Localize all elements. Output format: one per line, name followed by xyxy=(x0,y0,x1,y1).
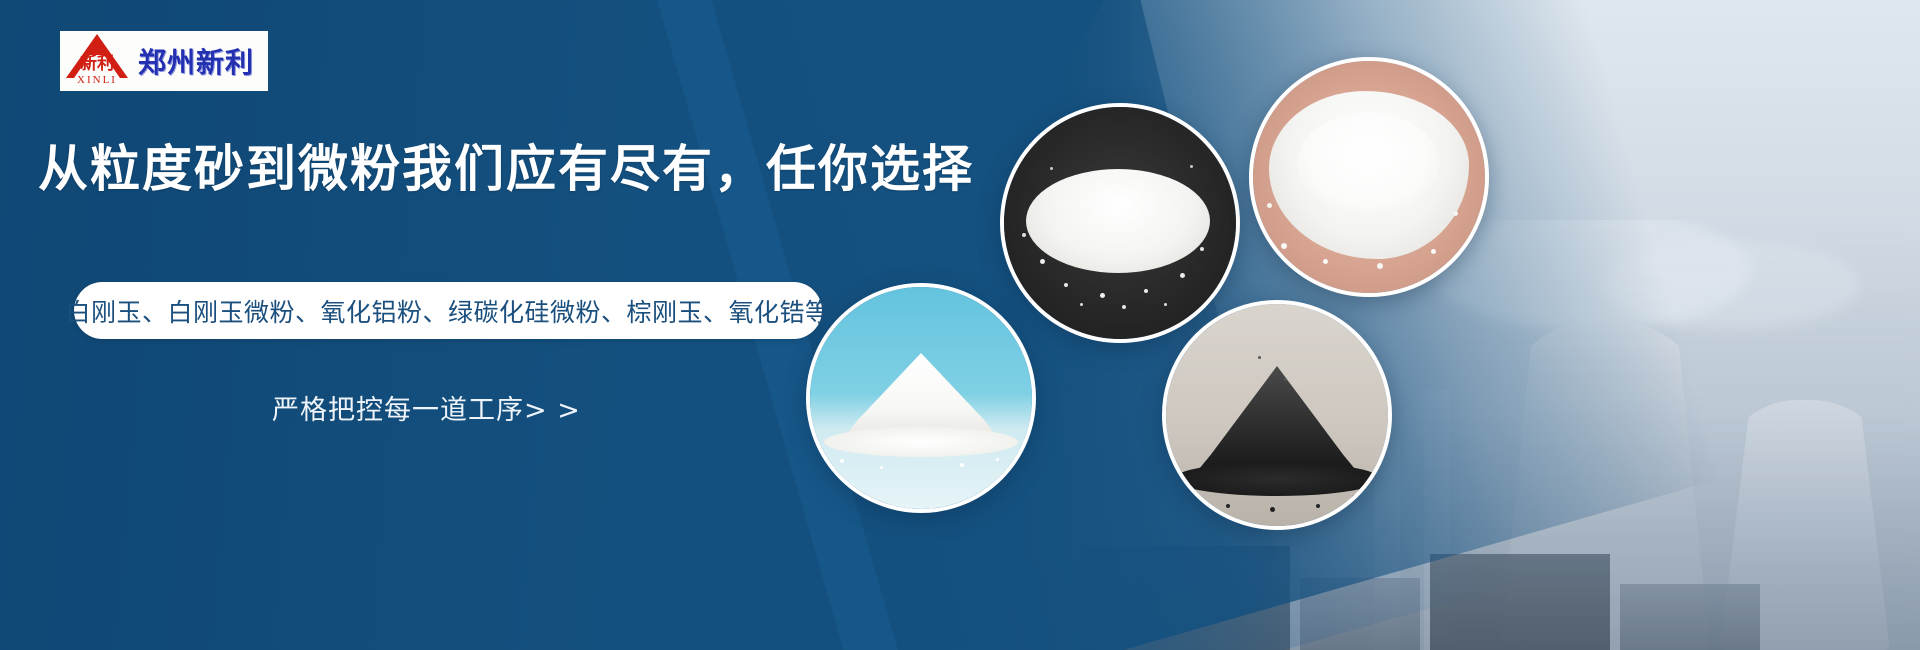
company-logo[interactable]: 新利 XINLI 郑州新利 xyxy=(60,31,268,91)
logo-company-name: 郑州新利 xyxy=(138,41,254,81)
promo-banner: 新利 XINLI 郑州新利 从粒度砂到微粉我们应有尽有，任你选择 白刚玉、白刚玉… xyxy=(0,0,1920,650)
logo-mark-pinyin: XINLI xyxy=(60,74,134,86)
product-list-text: 白刚玉、白刚玉微粉、氧化铝粉、绿碳化硅微粉、棕刚玉、氧化锆等 xyxy=(66,293,831,329)
headline: 从粒度砂到微粉我们应有尽有，任你选择 xyxy=(38,139,974,199)
product-photo-black-grit-cone xyxy=(1162,300,1392,530)
logo-triangle-icon: 新利 XINLI xyxy=(60,32,134,90)
product-photo-white-powder-on-terracotta-dish xyxy=(1249,57,1489,297)
product-list-pill: 白刚玉、白刚玉微粉、氧化铝粉、绿碳化硅微粉、棕刚玉、氧化锆等 xyxy=(74,282,822,339)
product-photo-white-powder-cone-on-cyan xyxy=(806,283,1036,513)
tagline-link[interactable]: 严格把控每一道工序> > xyxy=(272,388,581,427)
logo-mark-text: 新利 xyxy=(64,56,130,73)
